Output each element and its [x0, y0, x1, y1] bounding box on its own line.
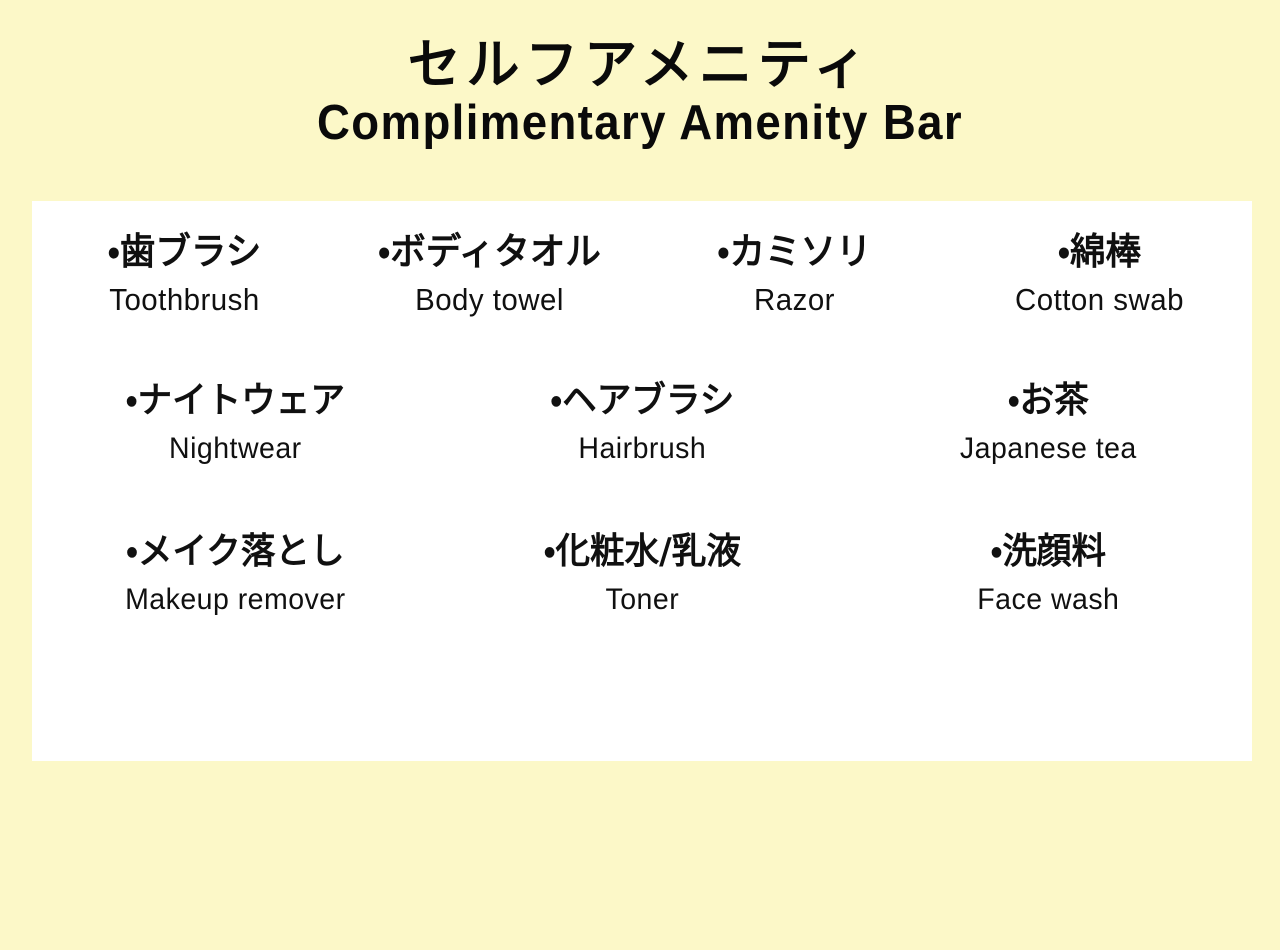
- amenity-label-japanese: ・歯ブラシ: [42, 227, 327, 277]
- amenity-label-japanese: ・洗顔料: [857, 527, 1240, 577]
- amenity-item-face-wash: ・洗顔料 Face wash: [845, 527, 1252, 620]
- poster-title-japanese: セルフアメニティ: [13, 34, 1267, 96]
- amenity-rows: ・歯ブラシ Toothbrush ・ボディタオル Body towel ・カミソ…: [32, 201, 1252, 761]
- amenity-item-toothbrush: ・歯ブラシ Toothbrush: [32, 227, 337, 320]
- amenity-poster: セルフアメニティ Complimentary Amenity Bar ・歯ブラシ…: [0, 0, 1280, 950]
- amenity-label-english: Japanese tea: [859, 429, 1238, 469]
- amenity-label-english: Toner: [453, 580, 832, 620]
- poster-title-english: Complimentary Amenity Bar: [45, 96, 1235, 150]
- amenity-label-english: Face wash: [859, 580, 1238, 620]
- amenity-item-razor: ・カミソリ Razor: [642, 227, 947, 320]
- amenity-label-english: Makeup remover: [46, 580, 425, 620]
- poster-title-block: セルフアメニティ Complimentary Amenity Bar: [0, 34, 1280, 150]
- amenity-row-1: ・歯ブラシ Toothbrush ・ボディタオル Body towel ・カミソ…: [32, 201, 1252, 320]
- amenity-row-3: ・メイク落とし Makeup remover ・化粧水/乳液 Toner ・洗顔…: [32, 469, 1252, 620]
- amenity-label-japanese: ・ヘアブラシ: [451, 376, 834, 426]
- amenity-label-english: Body towel: [348, 280, 630, 320]
- amenity-item-cotton-swab: ・綿棒 Cotton swab: [947, 227, 1252, 320]
- amenity-label-japanese: ・ボディタオル: [347, 227, 632, 277]
- amenity-item-makeup-remover: ・メイク落とし Makeup remover: [32, 527, 439, 620]
- amenity-label-japanese: ・メイク落とし: [44, 527, 427, 577]
- amenity-item-hairbrush: ・ヘアブラシ Hairbrush: [439, 376, 846, 469]
- amenity-label-japanese: ・化粧水/乳液: [451, 527, 834, 577]
- amenity-label-japanese: ・綿棒: [957, 227, 1242, 277]
- amenity-label-japanese: ・カミソリ: [652, 227, 937, 277]
- amenity-label-english: Toothbrush: [43, 280, 325, 320]
- amenity-label-japanese: ・お茶: [857, 376, 1240, 426]
- amenity-item-body-towel: ・ボディタオル Body towel: [337, 227, 642, 320]
- amenity-label-english: Razor: [653, 280, 935, 320]
- amenity-item-nightwear: ・ナイトウェア Nightwear: [32, 376, 439, 469]
- amenity-label-english: Nightwear: [46, 429, 425, 469]
- amenity-label-english: Cotton swab: [958, 280, 1240, 320]
- amenity-list-panel: ・歯ブラシ Toothbrush ・ボディタオル Body towel ・カミソ…: [32, 201, 1252, 761]
- amenity-label-english: Hairbrush: [453, 429, 832, 469]
- amenity-item-japanese-tea: ・お茶 Japanese tea: [845, 376, 1252, 469]
- amenity-label-japanese: ・ナイトウェア: [44, 376, 427, 426]
- amenity-row-2: ・ナイトウェア Nightwear ・ヘアブラシ Hairbrush ・お茶 J…: [32, 320, 1252, 469]
- amenity-item-toner: ・化粧水/乳液 Toner: [439, 527, 846, 620]
